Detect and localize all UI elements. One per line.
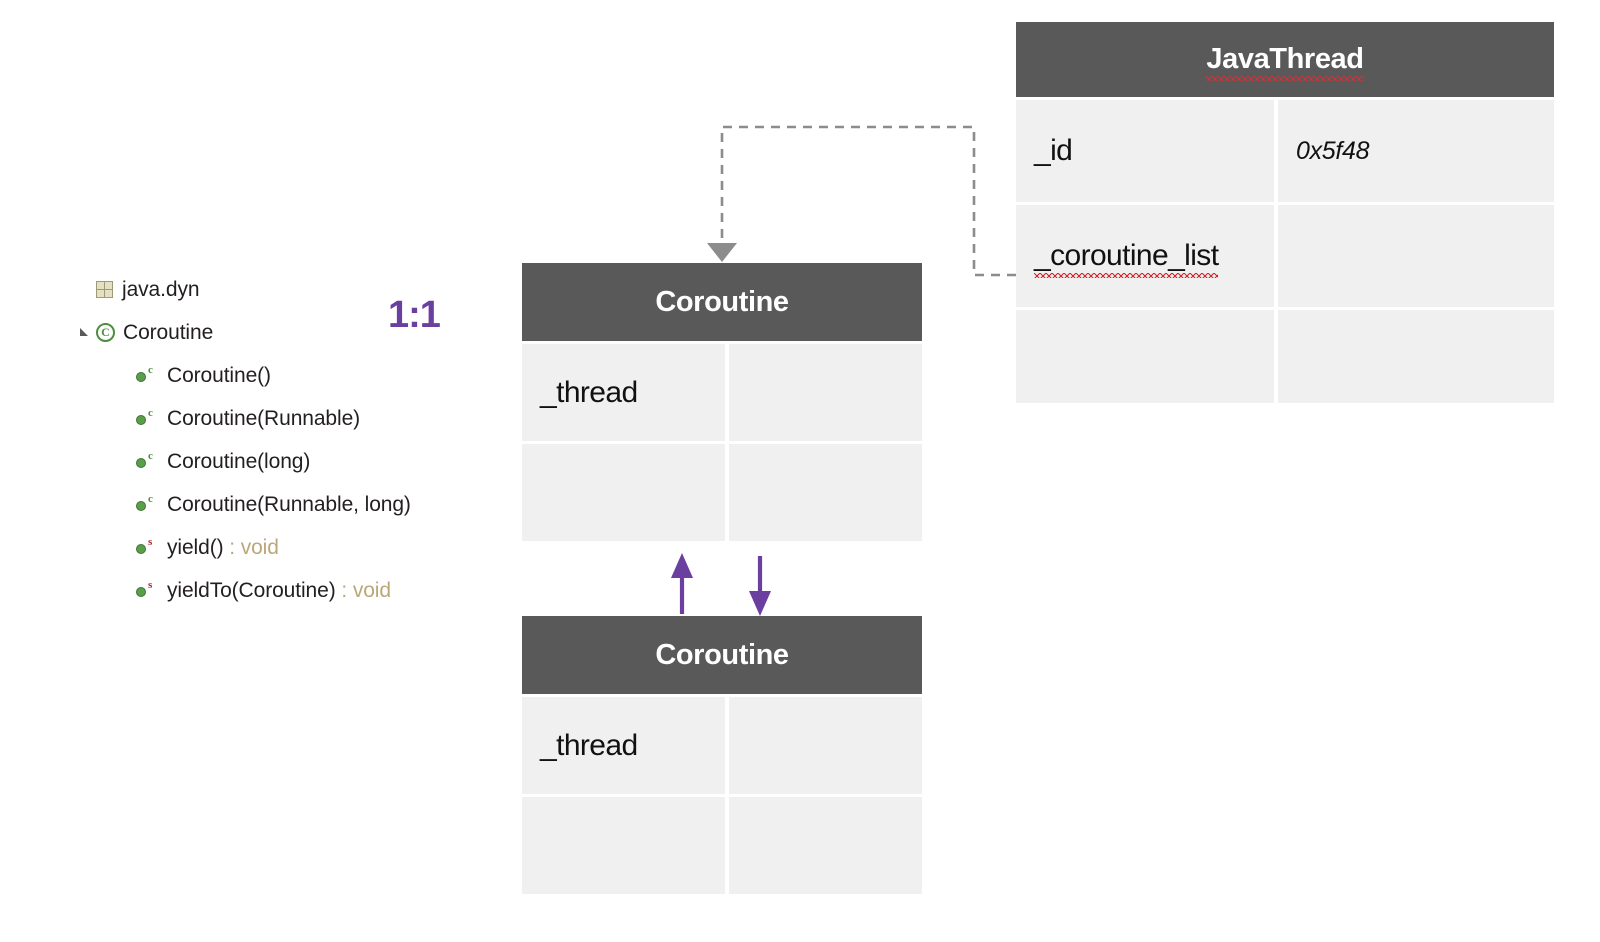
chevron-expanded-icon[interactable] bbox=[78, 325, 94, 341]
tree-item-label: java.dyn bbox=[122, 278, 199, 302]
javathread-field-value-0: 0x5f48 bbox=[1278, 100, 1554, 202]
field-name: _coroutine_list bbox=[1034, 239, 1218, 273]
class-icon: C bbox=[96, 323, 115, 342]
arrowhead-up-icon bbox=[671, 553, 693, 578]
member-dot-icon bbox=[136, 544, 146, 554]
coroutine-bottom-title: Coroutine bbox=[522, 616, 922, 694]
coroutine-top-field-value-1 bbox=[729, 444, 922, 541]
table-row: _thread bbox=[522, 344, 922, 441]
javathread-field-key-2 bbox=[1016, 310, 1274, 403]
table-row: _thread bbox=[522, 697, 922, 794]
javathread-field-value-1 bbox=[1278, 205, 1554, 307]
tree-item-label: yield() : void bbox=[167, 536, 279, 560]
table-row: _id 0x5f48 bbox=[1016, 100, 1554, 202]
javathread-title-bar: JavaThread bbox=[1016, 22, 1554, 97]
tree-item-constructor-2[interactable]: c Coroutine(long) bbox=[78, 440, 498, 483]
constructor-icon: c bbox=[136, 366, 162, 386]
tree-item-label: Coroutine bbox=[123, 321, 213, 345]
tree-item-constructor-3[interactable]: c Coroutine(Runnable, long) bbox=[78, 483, 498, 526]
javathread-field-key-1: _coroutine_list bbox=[1016, 205, 1274, 307]
javathread-title: JavaThread bbox=[1206, 43, 1363, 76]
static-badge: s bbox=[148, 537, 152, 548]
method-return-type: : void bbox=[223, 536, 278, 559]
javathread-field-value-2 bbox=[1278, 310, 1554, 403]
coroutine-box-bottom: Coroutine _thread bbox=[522, 616, 922, 894]
coroutine-bottom-field-key-0: _thread bbox=[522, 697, 725, 794]
constructor-badge: c bbox=[148, 408, 153, 419]
static-badge: s bbox=[148, 580, 152, 591]
coroutine-box-top: Coroutine _thread bbox=[522, 263, 922, 541]
member-dot-icon bbox=[136, 372, 146, 382]
coroutine-bottom-field-value-1 bbox=[729, 797, 922, 894]
tree-item-label: yieldTo(Coroutine) : void bbox=[167, 579, 391, 603]
cardinality-label: 1:1 bbox=[388, 294, 440, 337]
method-name: yieldTo(Coroutine) bbox=[167, 579, 336, 602]
arrowhead-down-icon bbox=[749, 591, 771, 616]
coroutine-top-field-value-0 bbox=[729, 344, 922, 441]
static-method-icon: s bbox=[136, 538, 162, 558]
tree-item-method-yieldto[interactable]: s yieldTo(Coroutine) : void bbox=[78, 569, 498, 612]
twisty-placeholder-icon bbox=[78, 282, 94, 298]
table-row bbox=[1016, 310, 1554, 403]
table-row bbox=[522, 444, 922, 541]
field-name: _id bbox=[1034, 134, 1072, 168]
member-dot-icon bbox=[136, 587, 146, 597]
static-method-icon: s bbox=[136, 581, 162, 601]
connector-coroutine-switch-up bbox=[671, 553, 693, 614]
coroutine-bottom-field-value-0 bbox=[729, 697, 922, 794]
tree-item-constructor-0[interactable]: c Coroutine() bbox=[78, 354, 498, 397]
tree-item-label: Coroutine(Runnable) bbox=[167, 407, 360, 431]
member-dot-icon bbox=[136, 415, 146, 425]
constructor-badge: c bbox=[148, 494, 153, 505]
constructor-badge: c bbox=[148, 365, 153, 376]
tree-item-label: Coroutine(long) bbox=[167, 450, 310, 474]
tree-item-constructor-1[interactable]: c Coroutine(Runnable) bbox=[78, 397, 498, 440]
coroutine-top-title: Coroutine bbox=[522, 263, 922, 341]
coroutine-top-field-key-1 bbox=[522, 444, 725, 541]
connector-coroutine-switch-down bbox=[749, 556, 771, 616]
constructor-icon: c bbox=[136, 409, 162, 429]
package-icon bbox=[96, 281, 113, 298]
constructor-icon: c bbox=[136, 452, 162, 472]
constructor-badge: c bbox=[148, 451, 153, 462]
javathread-field-key-0: _id bbox=[1016, 100, 1274, 202]
tree-item-method-yield[interactable]: s yield() : void bbox=[78, 526, 498, 569]
constructor-icon: c bbox=[136, 495, 162, 515]
tree-item-label: Coroutine(Runnable, long) bbox=[167, 493, 411, 517]
tree-item-label: Coroutine() bbox=[167, 364, 271, 388]
coroutine-bottom-field-key-1 bbox=[522, 797, 725, 894]
table-row: _coroutine_list bbox=[1016, 205, 1554, 307]
field-name: _thread bbox=[540, 729, 638, 763]
method-name: yield() bbox=[167, 536, 223, 559]
field-name: _thread bbox=[540, 376, 638, 410]
member-dot-icon bbox=[136, 458, 146, 468]
arrowhead-down-icon bbox=[707, 243, 737, 262]
javathread-box: JavaThread _id 0x5f48 _coroutine_list bbox=[1016, 22, 1554, 403]
table-row bbox=[522, 797, 922, 894]
member-dot-icon bbox=[136, 501, 146, 511]
method-return-type: : void bbox=[336, 579, 391, 602]
coroutine-top-field-key-0: _thread bbox=[522, 344, 725, 441]
connector-javathread-to-coroutine bbox=[707, 127, 1016, 275]
field-value: 0x5f48 bbox=[1296, 137, 1369, 166]
